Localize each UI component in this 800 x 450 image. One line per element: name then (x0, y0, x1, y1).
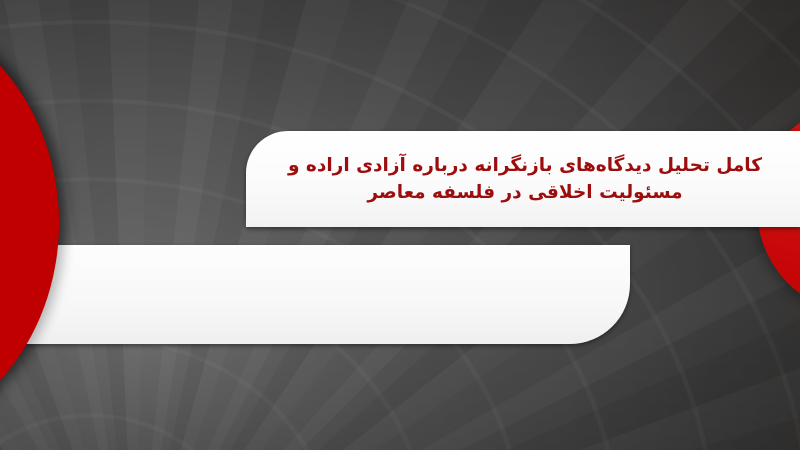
slide-title-line-1: کامل تحلیل دیدگاه‌های بازنگرانه درباره آ… (288, 155, 762, 176)
title-plate: کامل تحلیل دیدگاه‌های بازنگرانه درباره آ… (246, 131, 800, 227)
body-content-plate (0, 245, 630, 344)
slide-title-line-2: مسئولیت اخلاقی در فلسفه معاصر (367, 182, 682, 203)
slide-title: کامل تحلیل دیدگاه‌های بازنگرانه درباره آ… (246, 153, 800, 206)
presentation-slide: کامل تحلیل دیدگاه‌های بازنگرانه درباره آ… (0, 0, 800, 450)
